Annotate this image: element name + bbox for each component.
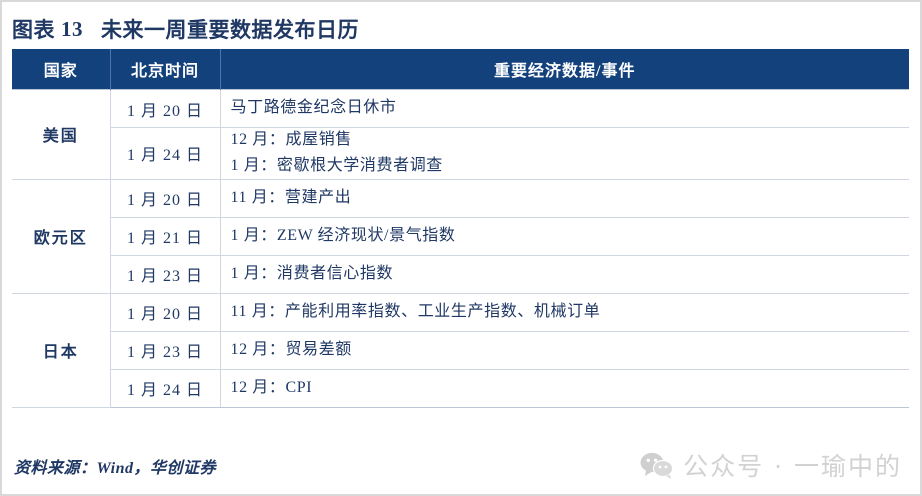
cell-time: 1 月 20 日 [110,293,220,331]
event-line: 马丁路德金纪念日休市 [231,96,900,121]
cell-time: 1 月 23 日 [110,331,220,369]
table-header: 国家 北京时间 重要经济数据/事件 [12,49,909,90]
table-row: 美国1 月 20 日马丁路德金纪念日休市 [12,90,909,128]
cell-event: 马丁路德金纪念日休市 [220,90,909,128]
event-line: 11 月：产能利用率指数、工业生产指数、机械订单 [231,300,900,325]
cell-time: 1 月 24 日 [110,369,220,407]
watermark: 公众号 · 一瑜中的 [640,452,902,480]
cell-event: 12 月：贸易差额 [220,331,909,369]
event-line: 1 月：密歇根大学消费者调查 [231,154,900,179]
figure-title-text: 未来一周重要数据发布日历 [101,14,359,44]
column-header-time: 北京时间 [110,49,220,90]
table-row: 1 月 23 日12 月：贸易差额 [12,331,909,369]
page-title: 图表 13 未来一周重要数据发布日历 [12,10,359,48]
table-row: 欧元区1 月 20 日11 月：营建产出 [12,179,909,217]
cell-event: 11 月：营建产出 [220,179,909,217]
event-line: 12 月：成屋销售 [231,128,900,153]
cell-event: 11 月：产能利用率指数、工业生产指数、机械订单 [220,293,909,331]
table-row: 1 月 24 日12 月：成屋销售1 月：密歇根大学消费者调查 [12,128,909,180]
cell-event: 12 月：成屋销售1 月：密歇根大学消费者调查 [220,128,909,180]
cell-time: 1 月 20 日 [110,179,220,217]
source-note: 资料来源：Wind，华创证券 [14,454,216,478]
figure-label: 图表 [12,14,55,44]
figure-number: 13 [61,17,83,42]
event-line: 12 月：CPI [231,376,900,401]
column-header-event: 重要经济数据/事件 [220,49,909,90]
cell-time: 1 月 20 日 [110,90,220,128]
table-row: 日本1 月 20 日11 月：产能利用率指数、工业生产指数、机械订单 [12,293,909,331]
cell-time: 1 月 21 日 [110,217,220,255]
table-row: 1 月 24 日12 月：CPI [12,369,909,407]
cell-country: 日本 [12,293,110,407]
figure-container: 图表 13 未来一周重要数据发布日历 国家 北京时间 重要经济数据/事件 美国1… [0,0,922,496]
wechat-icon [640,452,674,480]
cell-time: 1 月 23 日 [110,255,220,293]
event-line: 11 月：营建产出 [231,186,900,211]
cell-time: 1 月 24 日 [110,128,220,180]
cell-country: 欧元区 [12,179,110,293]
column-header-country: 国家 [12,49,110,90]
data-release-calendar-table: 国家 北京时间 重要经济数据/事件 美国1 月 20 日马丁路德金纪念日休市1 … [12,49,909,408]
event-line: 12 月：贸易差额 [231,338,900,363]
event-line: 1 月：ZEW 经济现状/景气指数 [231,224,900,249]
table-row: 1 月 23 日1 月：消费者信心指数 [12,255,909,293]
cell-event: 1 月：ZEW 经济现状/景气指数 [220,217,909,255]
table-row: 1 月 21 日1 月：ZEW 经济现状/景气指数 [12,217,909,255]
table-body: 美国1 月 20 日马丁路德金纪念日休市1 月 24 日12 月：成屋销售1 月… [12,90,909,408]
watermark-text: 公众号 · 一瑜中的 [683,454,902,479]
cell-event: 12 月：CPI [220,369,909,407]
cell-event: 1 月：消费者信心指数 [220,255,909,293]
table-header-row: 国家 北京时间 重要经济数据/事件 [12,49,909,90]
event-line: 1 月：消费者信心指数 [231,262,900,287]
cell-country: 美国 [12,90,110,180]
